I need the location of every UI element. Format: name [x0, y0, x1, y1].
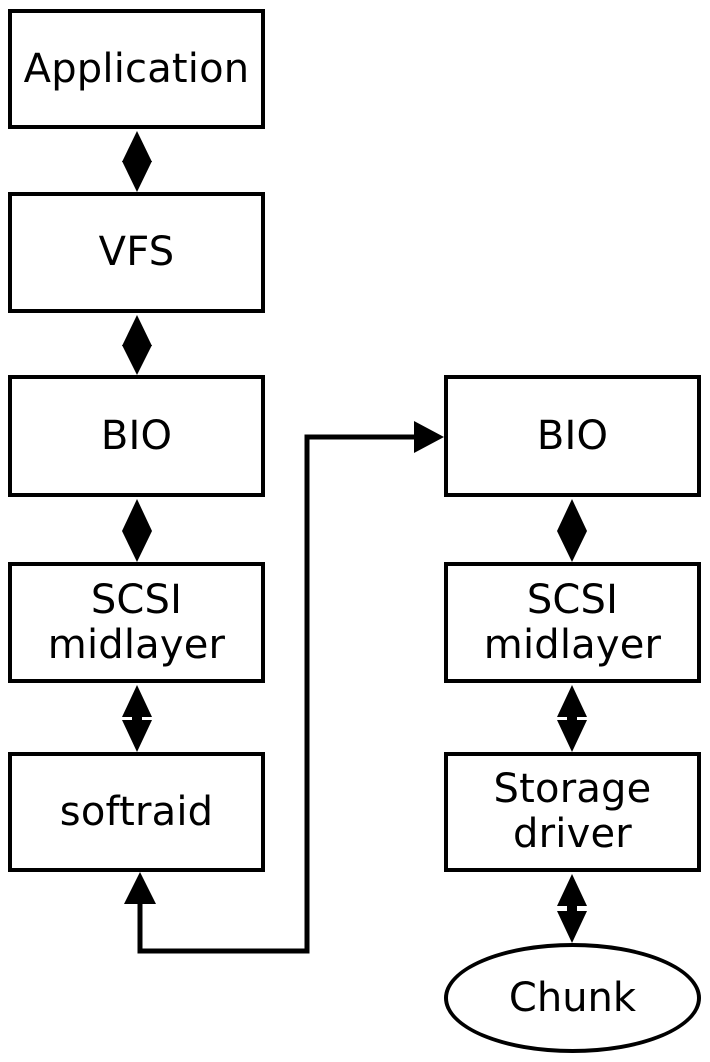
node-application-label: Application: [24, 47, 250, 92]
node-softraid[interactable]: softraid: [8, 752, 265, 872]
connector-scsi-right-storage-driver: [557, 685, 587, 752]
node-scsi-midlayer-right-label: SCSI midlayer: [484, 578, 661, 668]
node-bio-left-label: BIO: [101, 414, 172, 459]
node-vfs[interactable]: VFS: [8, 192, 265, 313]
node-chunk[interactable]: Chunk: [444, 943, 701, 1053]
node-chunk-label: Chunk: [509, 976, 636, 1021]
node-softraid-label: softraid: [60, 790, 213, 835]
connector-vfs-bio-left: [122, 315, 152, 375]
node-bio-right-label: BIO: [537, 414, 608, 459]
node-bio-right[interactable]: BIO: [444, 375, 701, 497]
connector-storage-driver-chunk: [557, 874, 587, 943]
node-bio-left[interactable]: BIO: [8, 375, 265, 497]
diagram-connectors-layer: [0, 0, 710, 1062]
node-storage-driver[interactable]: Storage driver: [444, 752, 701, 872]
connector-application-vfs: [122, 131, 152, 192]
node-storage-driver-label: Storage driver: [494, 767, 652, 857]
connector-bio-left-scsi-left: [122, 499, 152, 562]
connector-scsi-left-softraid: [122, 685, 152, 752]
node-scsi-midlayer-right[interactable]: SCSI midlayer: [444, 562, 701, 683]
connector-bio-right-scsi-right: [557, 499, 587, 562]
diagram-canvas: Application VFS BIO SCSI midlayer softra…: [0, 0, 710, 1062]
node-application[interactable]: Application: [8, 9, 265, 129]
node-scsi-midlayer-left-label: SCSI midlayer: [48, 578, 225, 668]
node-vfs-label: VFS: [99, 230, 175, 275]
node-scsi-midlayer-left[interactable]: SCSI midlayer: [8, 562, 265, 683]
